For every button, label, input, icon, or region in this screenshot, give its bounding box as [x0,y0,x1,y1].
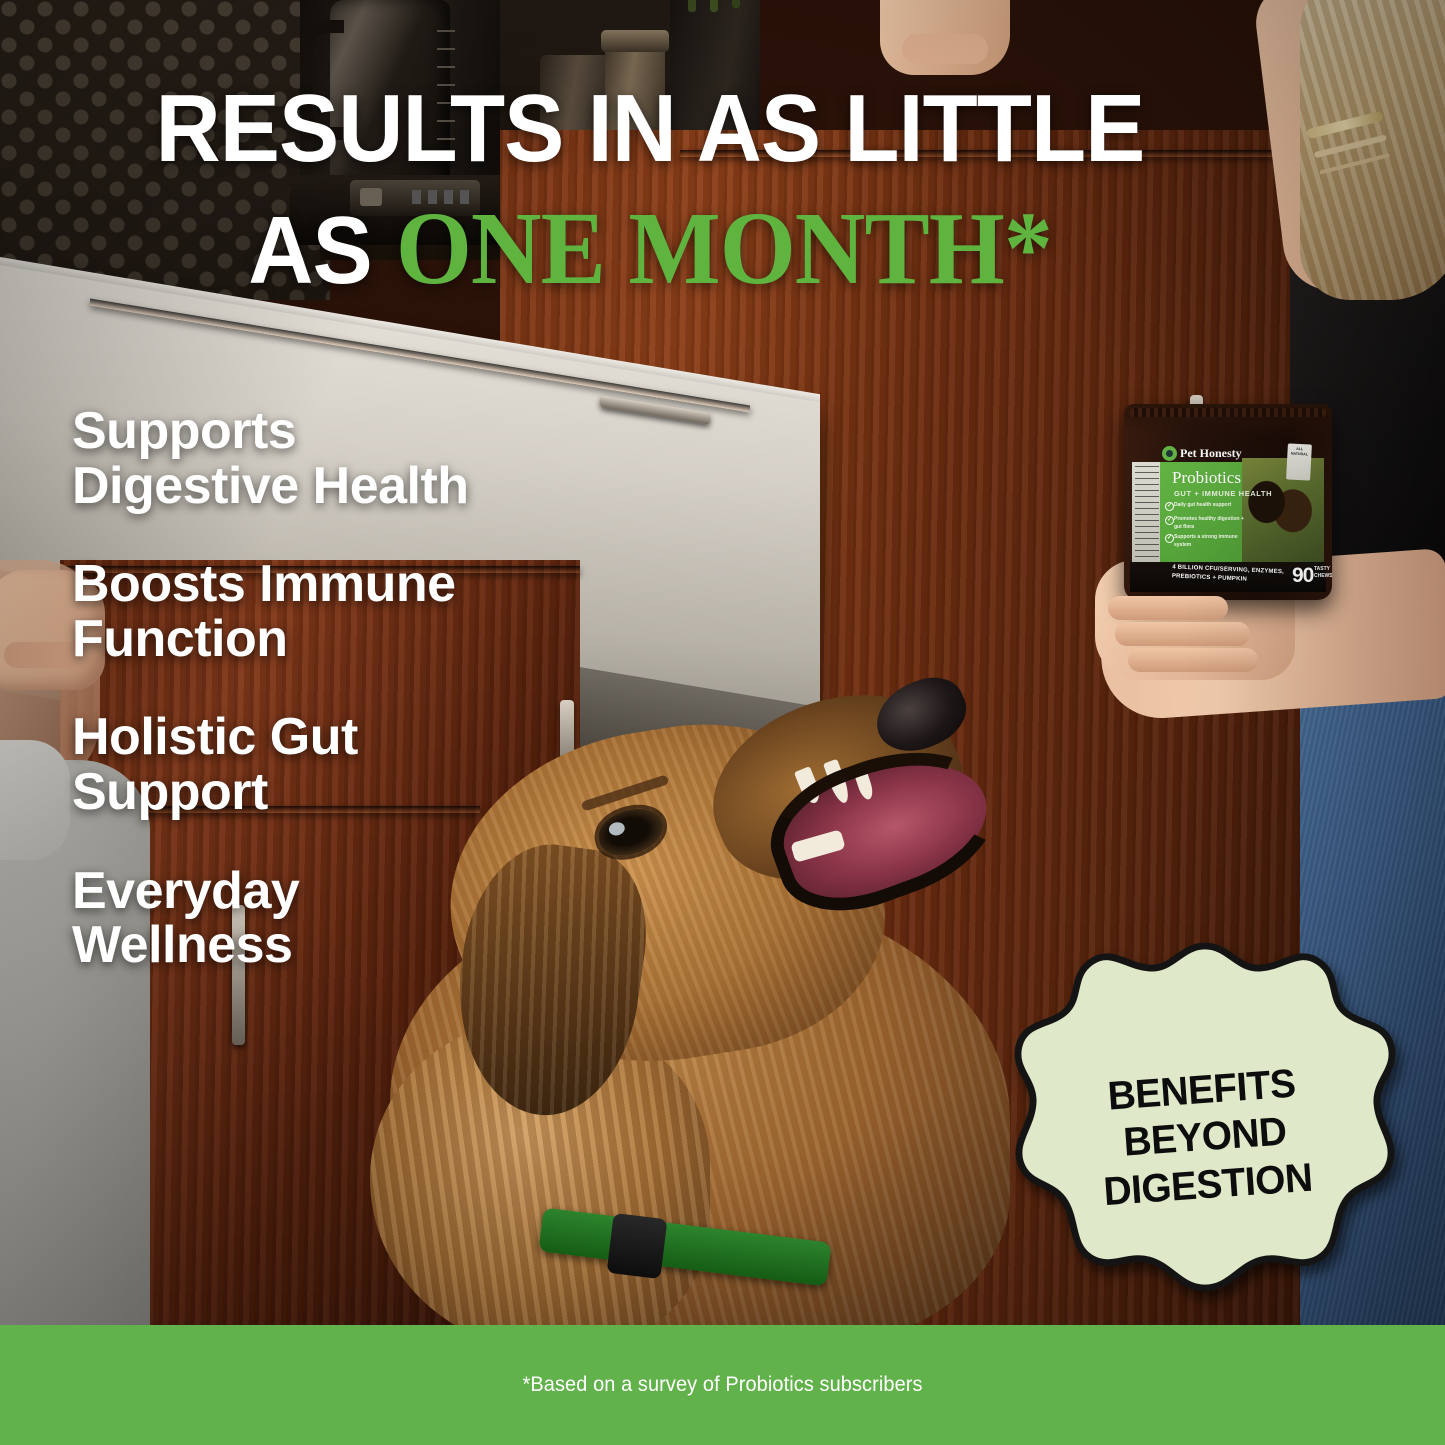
jar-count-label: TASTY CHEWS [1314,566,1332,579]
jar-bullet-3: Supports a strong immune system [1174,534,1248,549]
headline-line-1: RESULTS IN AS LITTLE [39,82,1261,176]
woman-hand-holding-treat [880,0,1010,75]
finger-3 [1128,648,1258,672]
footer-band: *Based on a survey of Probiotics subscri… [0,1325,1445,1445]
benefit-item-1: SupportsDigestive Health [72,404,672,513]
headline-line-2-prefix: AS [248,197,396,304]
headline-line-2: AS ONE MONTH* [39,198,1261,300]
finger-1 [1108,596,1228,620]
jar-product-subtitle: GUT + IMMUNE HEALTH [1174,489,1272,498]
jar-brand-name: Pet Honesty [1180,446,1242,461]
jar-count-number: 90 [1292,564,1313,588]
badge-line-3: DIGESTION [1103,1156,1315,1214]
footer-disclaimer: *Based on a survey of Probiotics subscri… [522,1373,922,1397]
woman-blonde-hair [1300,0,1445,300]
dog-collar-tag [607,1213,668,1279]
jar-label-dog-photo [1242,458,1324,568]
benefits-beyond-digestion-badge: BENEFITS BEYOND DIGESTION [1000,938,1410,1338]
jar-label-side-panel [1132,462,1162,578]
jar-bullet-2: Promotes healthy digestion + gut flora [1174,516,1248,531]
product-jar: Pet Honesty Probiotics GUT + IMMUNE HEAL… [1124,404,1332,600]
headline: RESULTS IN AS LITTLE AS ONE MONTH* [0,82,1300,300]
badge-text-block: BENEFITS BEYOND DIGESTION [987,924,1424,1352]
benefit-item-3: Holistic GutSupport [72,710,672,819]
all-natural-seal: ALL NATURAL [1286,443,1312,480]
bystander-sleeve [0,740,70,860]
supplement-facts-lines [1135,466,1159,574]
product-marketing-image: Pet Honesty Probiotics GUT + IMMUNE HEAL… [0,0,1445,1445]
jar-lid [1124,404,1332,438]
headline-line-2-highlight: ONE MONTH* [396,191,1052,306]
jar-bullet-1: Daily gut health support [1174,502,1248,510]
benefit-item-2: Boosts ImmuneFunction [72,557,672,666]
benefit-item-4: EverydayWellness [72,864,672,973]
jar-product-name: Probiotics [1172,468,1241,488]
badge-line-2: BEYOND [1122,1111,1288,1165]
finger-2 [1115,622,1250,646]
paw-logo-icon [1162,446,1177,461]
benefits-list: SupportsDigestive Health Boosts ImmuneFu… [72,404,672,973]
